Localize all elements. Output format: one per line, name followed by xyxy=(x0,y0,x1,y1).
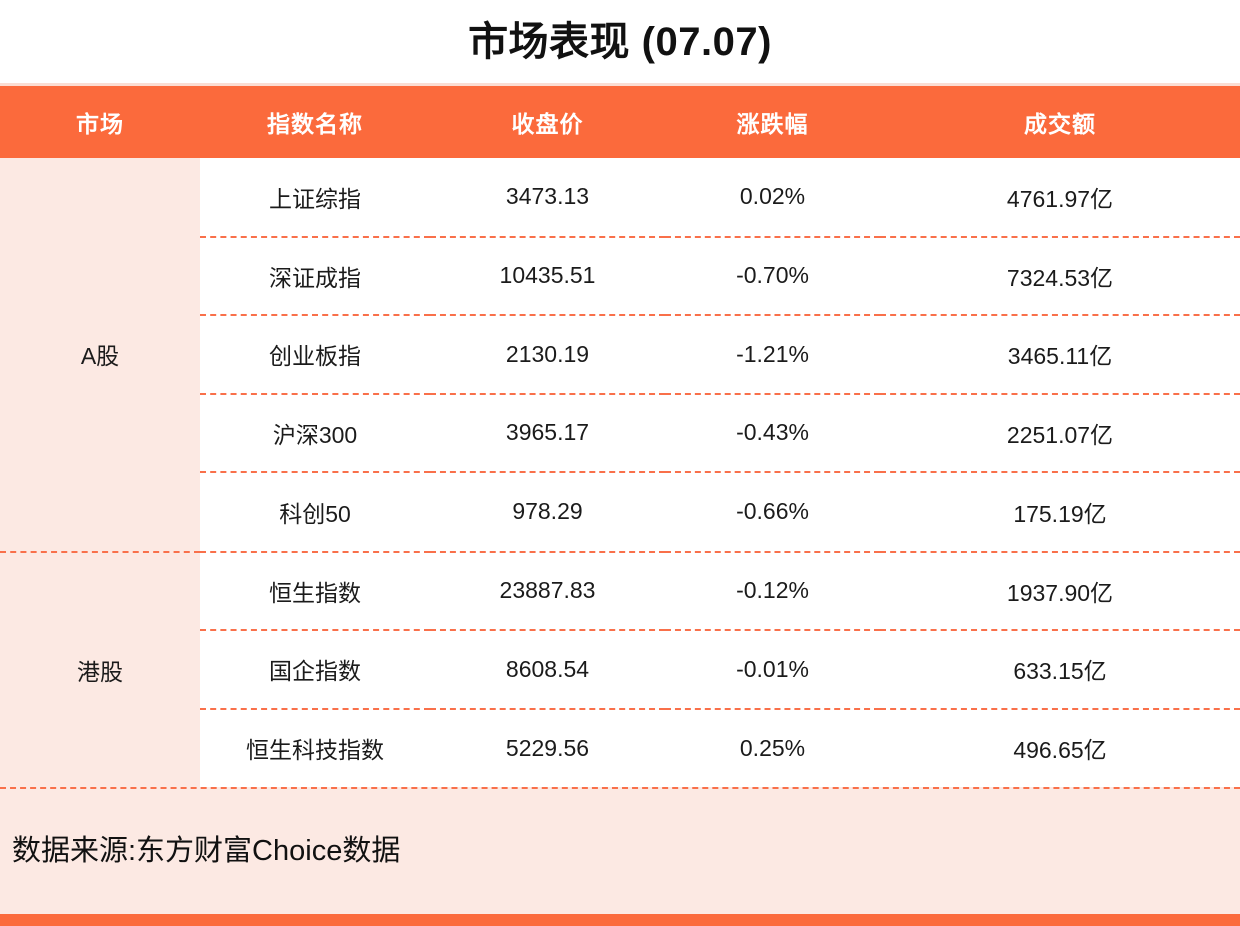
cell-turnover: 7324.53亿 xyxy=(880,237,1240,316)
column-header-name: 指数名称 xyxy=(200,86,430,158)
cell-turnover: 3465.11亿 xyxy=(880,315,1240,394)
title-bar: 市场表现 (07.07) xyxy=(0,0,1240,83)
table-header: 市场 指数名称 收盘价 涨跌幅 成交额 xyxy=(0,86,1240,158)
market-performance-card: 市场表现 (07.07) 市场 指数名称 收盘价 涨跌幅 成交额 A股上证综指3… xyxy=(0,0,1240,926)
cell-turnover: 496.65亿 xyxy=(880,709,1240,788)
cell-close-price: 978.29 xyxy=(430,472,665,551)
table-row: A股上证综指3473.130.02%4761.97亿 xyxy=(0,158,1240,237)
cell-close-price: 2130.19 xyxy=(430,315,665,394)
cell-change-percent: -0.01% xyxy=(665,630,880,709)
column-header-close: 收盘价 xyxy=(430,86,665,158)
market-group-label: 港股 xyxy=(0,552,200,788)
cell-close-price: 3473.13 xyxy=(430,158,665,237)
cell-close-price: 3965.17 xyxy=(430,394,665,473)
cell-close-price: 8608.54 xyxy=(430,630,665,709)
cell-change-percent: -0.70% xyxy=(665,237,880,316)
cell-index-name: 国企指数 xyxy=(200,630,430,709)
column-header-amount: 成交额 xyxy=(880,86,1240,158)
cell-close-price: 23887.83 xyxy=(430,552,665,631)
cell-index-name: 恒生科技指数 xyxy=(200,709,430,788)
footer: 数据来源:东方财富Choice数据 xyxy=(0,787,1240,914)
cell-index-name: 深证成指 xyxy=(200,237,430,316)
cell-index-name: 科创50 xyxy=(200,472,430,551)
cell-change-percent: -0.66% xyxy=(665,472,880,551)
table-row: 港股恒生指数23887.83-0.12%1937.90亿 xyxy=(0,552,1240,631)
page-title: 市场表现 (07.07) xyxy=(468,22,772,62)
cell-close-price: 10435.51 xyxy=(430,237,665,316)
table-header-row: 市场 指数名称 收盘价 涨跌幅 成交额 xyxy=(0,86,1240,158)
cell-index-name: 沪深300 xyxy=(200,394,430,473)
cell-change-percent: -0.43% xyxy=(665,394,880,473)
cell-close-price: 5229.56 xyxy=(430,709,665,788)
cell-change-percent: -0.12% xyxy=(665,552,880,631)
market-table: 市场 指数名称 收盘价 涨跌幅 成交额 A股上证综指3473.130.02%47… xyxy=(0,86,1240,787)
cell-index-name: 恒生指数 xyxy=(200,552,430,631)
cell-turnover: 4761.97亿 xyxy=(880,158,1240,237)
cell-turnover: 1937.90亿 xyxy=(880,552,1240,631)
market-group-label: A股 xyxy=(0,158,200,551)
footer-bottom-rule xyxy=(0,914,1240,926)
table-body: A股上证综指3473.130.02%4761.97亿深证成指10435.51-0… xyxy=(0,158,1240,787)
cell-turnover: 2251.07亿 xyxy=(880,394,1240,473)
cell-change-percent: 0.25% xyxy=(665,709,880,788)
cell-index-name: 创业板指 xyxy=(200,315,430,394)
cell-change-percent: 0.02% xyxy=(665,158,880,237)
column-header-market: 市场 xyxy=(0,86,200,158)
data-source-label: 数据来源:东方财富Choice数据 xyxy=(12,837,400,866)
cell-index-name: 上证综指 xyxy=(200,158,430,237)
cell-turnover: 175.19亿 xyxy=(880,472,1240,551)
cell-change-percent: -1.21% xyxy=(665,315,880,394)
cell-turnover: 633.15亿 xyxy=(880,630,1240,709)
column-header-change: 涨跌幅 xyxy=(665,86,880,158)
